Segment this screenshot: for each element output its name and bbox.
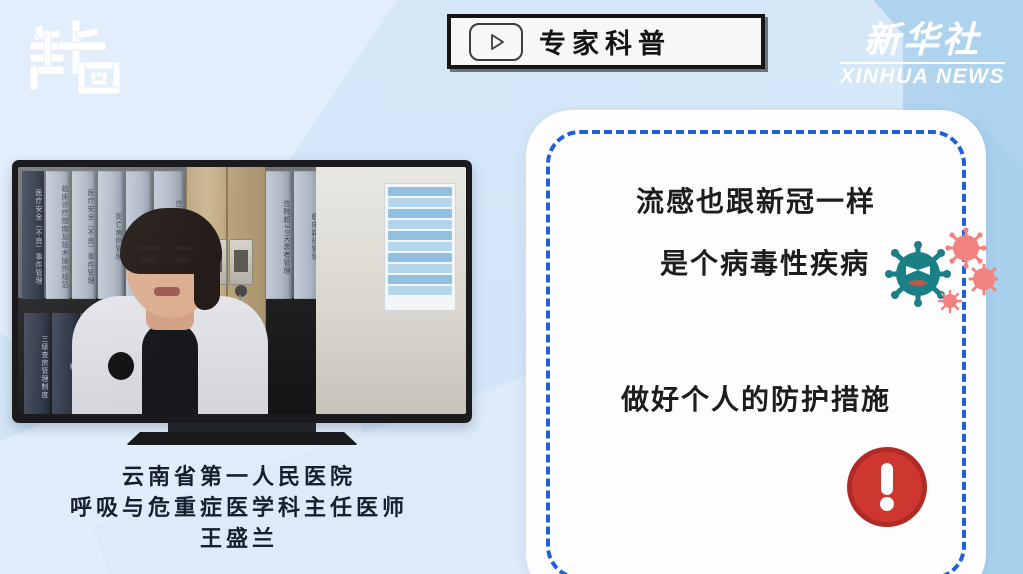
xinhua-logo-rule bbox=[840, 62, 1005, 64]
scene-interviewee-microphone bbox=[108, 352, 134, 380]
notice-row bbox=[388, 275, 452, 284]
alert-exclamation-icon bbox=[846, 446, 928, 528]
notice-row bbox=[388, 253, 452, 262]
scene-binder: 住院超30天患者管理 bbox=[266, 171, 292, 299]
virus-cluster-icon bbox=[878, 222, 998, 314]
header-badge-title: 专家科普 bbox=[539, 22, 671, 61]
scene-interviewee-brow-left bbox=[138, 246, 160, 250]
caption-line-hospital: 云南省第一人民医院 bbox=[0, 462, 478, 493]
scene-interviewee-mouth bbox=[154, 287, 180, 296]
tv-screen: 医疗安全（不良）事件管理 临床诊疗指南及技术操作规范 医疗安全（不良）事件管理 … bbox=[18, 167, 466, 414]
xinhua-news-logo: 新华社 XINHUA NEWS bbox=[840, 22, 1005, 87]
caption-line-name: 王盛兰 bbox=[0, 524, 478, 555]
notice-row bbox=[388, 209, 452, 218]
notice-row bbox=[388, 198, 452, 207]
caption-line-title: 呼吸与危重症医学科主任医师 bbox=[0, 493, 478, 524]
header-badge: 专家科普 bbox=[447, 14, 765, 69]
xinhua-logo-cn: 新华社 bbox=[840, 22, 1005, 60]
video-frame: 专家科普 新华社 XINHUA NEWS 医疗安全（不良）事件管理 临床诊疗指南… bbox=[0, 0, 1023, 574]
notice-row bbox=[388, 231, 452, 240]
play-triangle-icon bbox=[469, 23, 523, 61]
scene-binder: 医疗安全（不良）事件管理 bbox=[22, 171, 44, 299]
tv-bezel: 医疗安全（不良）事件管理 临床诊疗指南及技术操作规范 医疗安全（不良）事件管理 … bbox=[12, 160, 472, 423]
scene-binder: 临床诊疗指南及技术操作规范 bbox=[46, 171, 70, 299]
program-logo bbox=[16, 8, 128, 100]
scene-interviewee-brow-right bbox=[172, 246, 194, 250]
notice-row bbox=[388, 242, 452, 251]
scene-interviewee-hair-side bbox=[194, 250, 220, 310]
scene-right-wall bbox=[316, 167, 466, 414]
subtitle-block-secondary: 做好个人的防护措施 bbox=[526, 378, 986, 418]
notice-row bbox=[388, 187, 452, 196]
notice-row bbox=[388, 264, 452, 273]
subtitle-card: 流感也跟新冠一样 是个病毒性疾病 做好个人的防护措施 bbox=[526, 110, 986, 574]
scene-binder-lower: 三级查房管理制度 bbox=[24, 313, 50, 414]
tv-player: 医疗安全（不良）事件管理 临床诊疗指南及技术操作规范 医疗安全（不良）事件管理 … bbox=[12, 160, 472, 423]
scene-interviewee-inner-shirt bbox=[142, 322, 198, 414]
scene-notice-board bbox=[384, 183, 456, 311]
xinhua-logo-en: XINHUA NEWS bbox=[840, 66, 1005, 87]
notice-row bbox=[388, 220, 452, 229]
speaker-caption: 云南省第一人民医院 呼吸与危重症医学科主任医师 王盛兰 bbox=[0, 462, 478, 556]
scene-interviewee bbox=[72, 204, 268, 414]
scene-interviewee-eye-left bbox=[140, 257, 156, 264]
tv-stand-base bbox=[126, 432, 358, 445]
subtitle-line-1: 流感也跟新冠一样 bbox=[526, 180, 986, 220]
subtitle-line-3: 做好个人的防护措施 bbox=[526, 378, 986, 418]
video-scene: 医疗安全（不良）事件管理 临床诊疗指南及技术操作规范 医疗安全（不良）事件管理 … bbox=[18, 167, 466, 414]
scene-interviewee-eye-right bbox=[174, 257, 190, 264]
notice-row bbox=[388, 286, 452, 295]
